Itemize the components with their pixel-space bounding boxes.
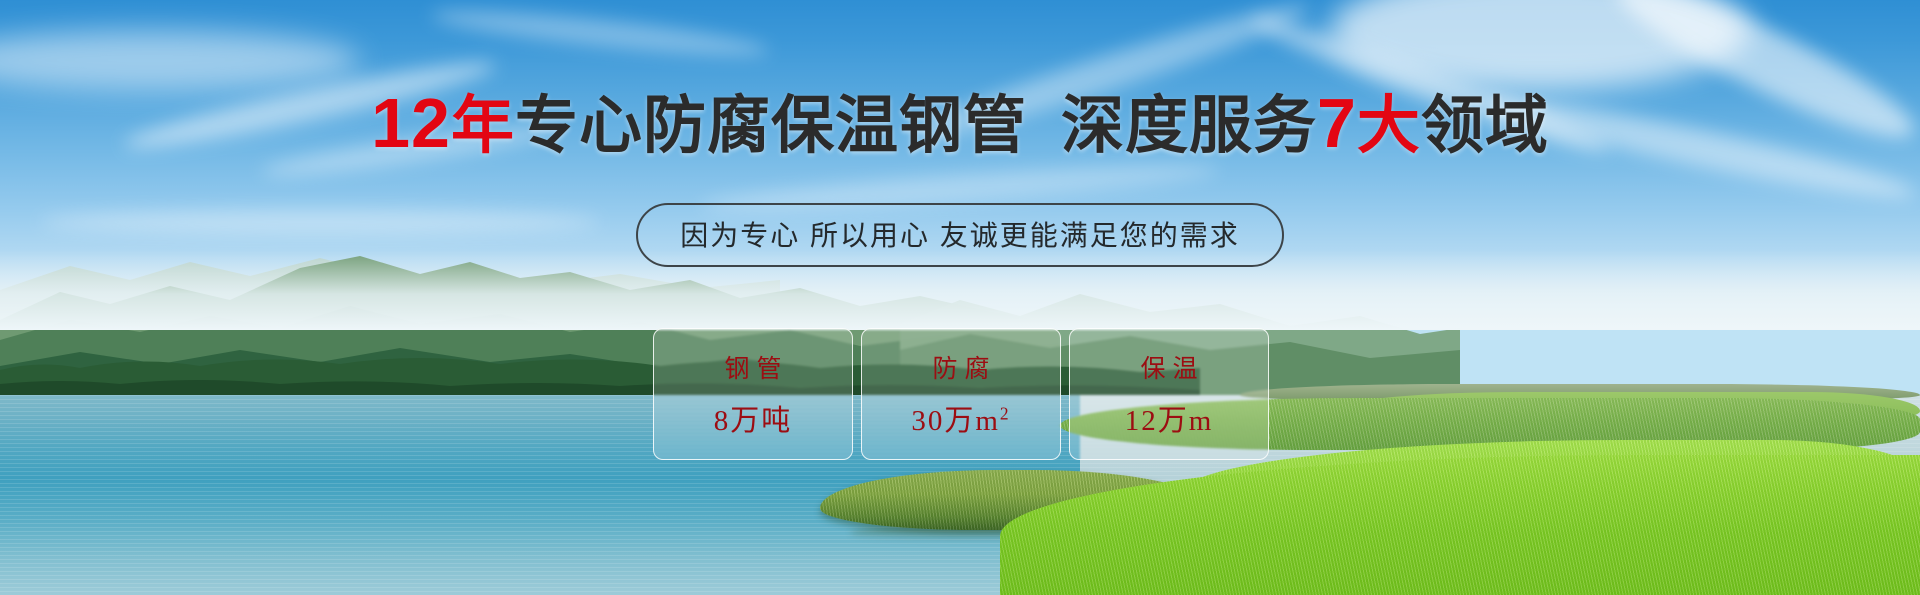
headline-fields-unit: 大 [1357, 91, 1421, 161]
stat-card-anticorrosion[interactable]: 防腐 30万m2 [861, 328, 1061, 460]
banner-subtitle-wrapper: 因为专心 所以用心 友诚更能满足您的需求 [0, 203, 1920, 267]
stat-card-list: 钢管 8万吨 防腐 30万m2 保温 12万m [653, 328, 1269, 460]
headline-years-number: 12 [371, 84, 451, 162]
headline-main-text: 专心防腐保温钢管 [515, 91, 1027, 161]
banner-content: 12年专心防腐保温钢管深度服务7大领域 因为专心 所以用心 友诚更能满足您的需求… [0, 0, 1920, 595]
stat-card-value: 8万吨 [714, 397, 793, 439]
banner-subtitle: 因为专心 所以用心 友诚更能满足您的需求 [636, 203, 1284, 267]
hero-banner: 12年专心防腐保温钢管深度服务7大领域 因为专心 所以用心 友诚更能满足您的需求… [0, 0, 1920, 595]
stat-card-title: 保温 [1133, 349, 1204, 385]
headline-service-text: 深度服务 [1061, 91, 1317, 161]
headline-years-unit: 年 [451, 91, 515, 161]
stat-card-title: 防腐 [925, 349, 996, 385]
stat-card-title: 钢管 [717, 349, 788, 385]
headline-fields-text: 领域 [1421, 91, 1549, 161]
stat-card-steel-pipe[interactable]: 钢管 8万吨 [653, 328, 853, 460]
stat-card-value: 12万m [1125, 397, 1214, 439]
stat-value-text: 8万吨 [714, 405, 793, 437]
stat-card-insulation[interactable]: 保温 12万m [1069, 328, 1269, 460]
stat-value-text: 30万m [911, 405, 1000, 437]
stat-value-superscript: 2 [1000, 403, 1011, 423]
stat-value-text: 12万m [1125, 405, 1214, 437]
headline-fields-number: 7 [1317, 84, 1357, 162]
stat-card-value: 30万m2 [911, 397, 1010, 439]
banner-headline: 12年专心防腐保温钢管深度服务7大领域 [0, 88, 1920, 158]
